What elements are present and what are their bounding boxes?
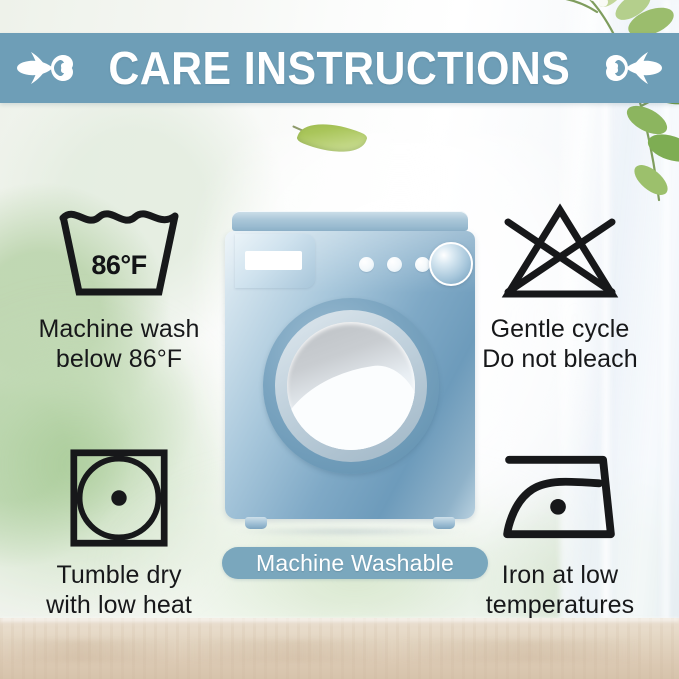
care-symbol-caption: Machine wash below 86°F <box>14 314 224 374</box>
machine-washable-badge: Machine Washable <box>222 547 488 579</box>
care-instructions-graphic: CARE INSTRUCTIONS 86°F Machine w <box>0 0 679 679</box>
care-symbol-caption: Gentle cycle Do not bleach <box>455 314 665 374</box>
detergent-drawer-slot <box>245 251 302 270</box>
caption-line-2: with low heat <box>14 590 224 620</box>
indicator-light-1 <box>359 257 374 272</box>
wash-temperature-value: 86°F <box>53 250 185 281</box>
care-symbol-tumble-dry: Tumble dry with low heat <box>14 442 224 620</box>
tumble-dry-low-icon <box>14 442 224 554</box>
door-glass-highlight <box>287 360 415 450</box>
table-wood-grain <box>0 640 679 662</box>
do-not-bleach-triangle-icon <box>455 196 665 308</box>
indicator-light-3 <box>415 257 430 272</box>
header-banner: CARE INSTRUCTIONS <box>0 33 679 103</box>
caption-line-1: Gentle cycle <box>455 314 665 344</box>
machine-shadow <box>233 527 467 536</box>
page-title: CARE INSTRUCTIONS <box>109 45 571 91</box>
care-symbol-machine-wash: 86°F Machine wash below 86°F <box>14 196 224 374</box>
caption-line-1: Machine wash <box>14 314 224 344</box>
care-symbol-do-not-bleach: Gentle cycle Do not bleach <box>455 196 665 374</box>
care-symbol-iron: Iron at low temperatures <box>455 442 665 620</box>
program-selector-knob <box>429 242 473 286</box>
caption-line-2: below 86°F <box>14 344 224 374</box>
caption-line-2: temperatures <box>455 590 665 620</box>
iron-low-heat-icon <box>455 442 665 554</box>
indicator-light-2 <box>387 257 402 272</box>
washing-machine-illustration <box>225 205 475 530</box>
fleur-de-lis-icon-left <box>17 46 77 90</box>
care-symbol-caption: Tumble dry with low heat <box>14 560 224 620</box>
washing-machine-lid <box>232 211 468 231</box>
door-glass <box>287 322 415 450</box>
caption-line-1: Tumble dry <box>14 560 224 590</box>
fleur-de-lis-icon-right <box>602 46 662 90</box>
wash-tub-icon: 86°F <box>14 196 224 308</box>
caption-line-2: Do not bleach <box>455 344 665 374</box>
machine-washable-label: Machine Washable <box>256 552 454 575</box>
